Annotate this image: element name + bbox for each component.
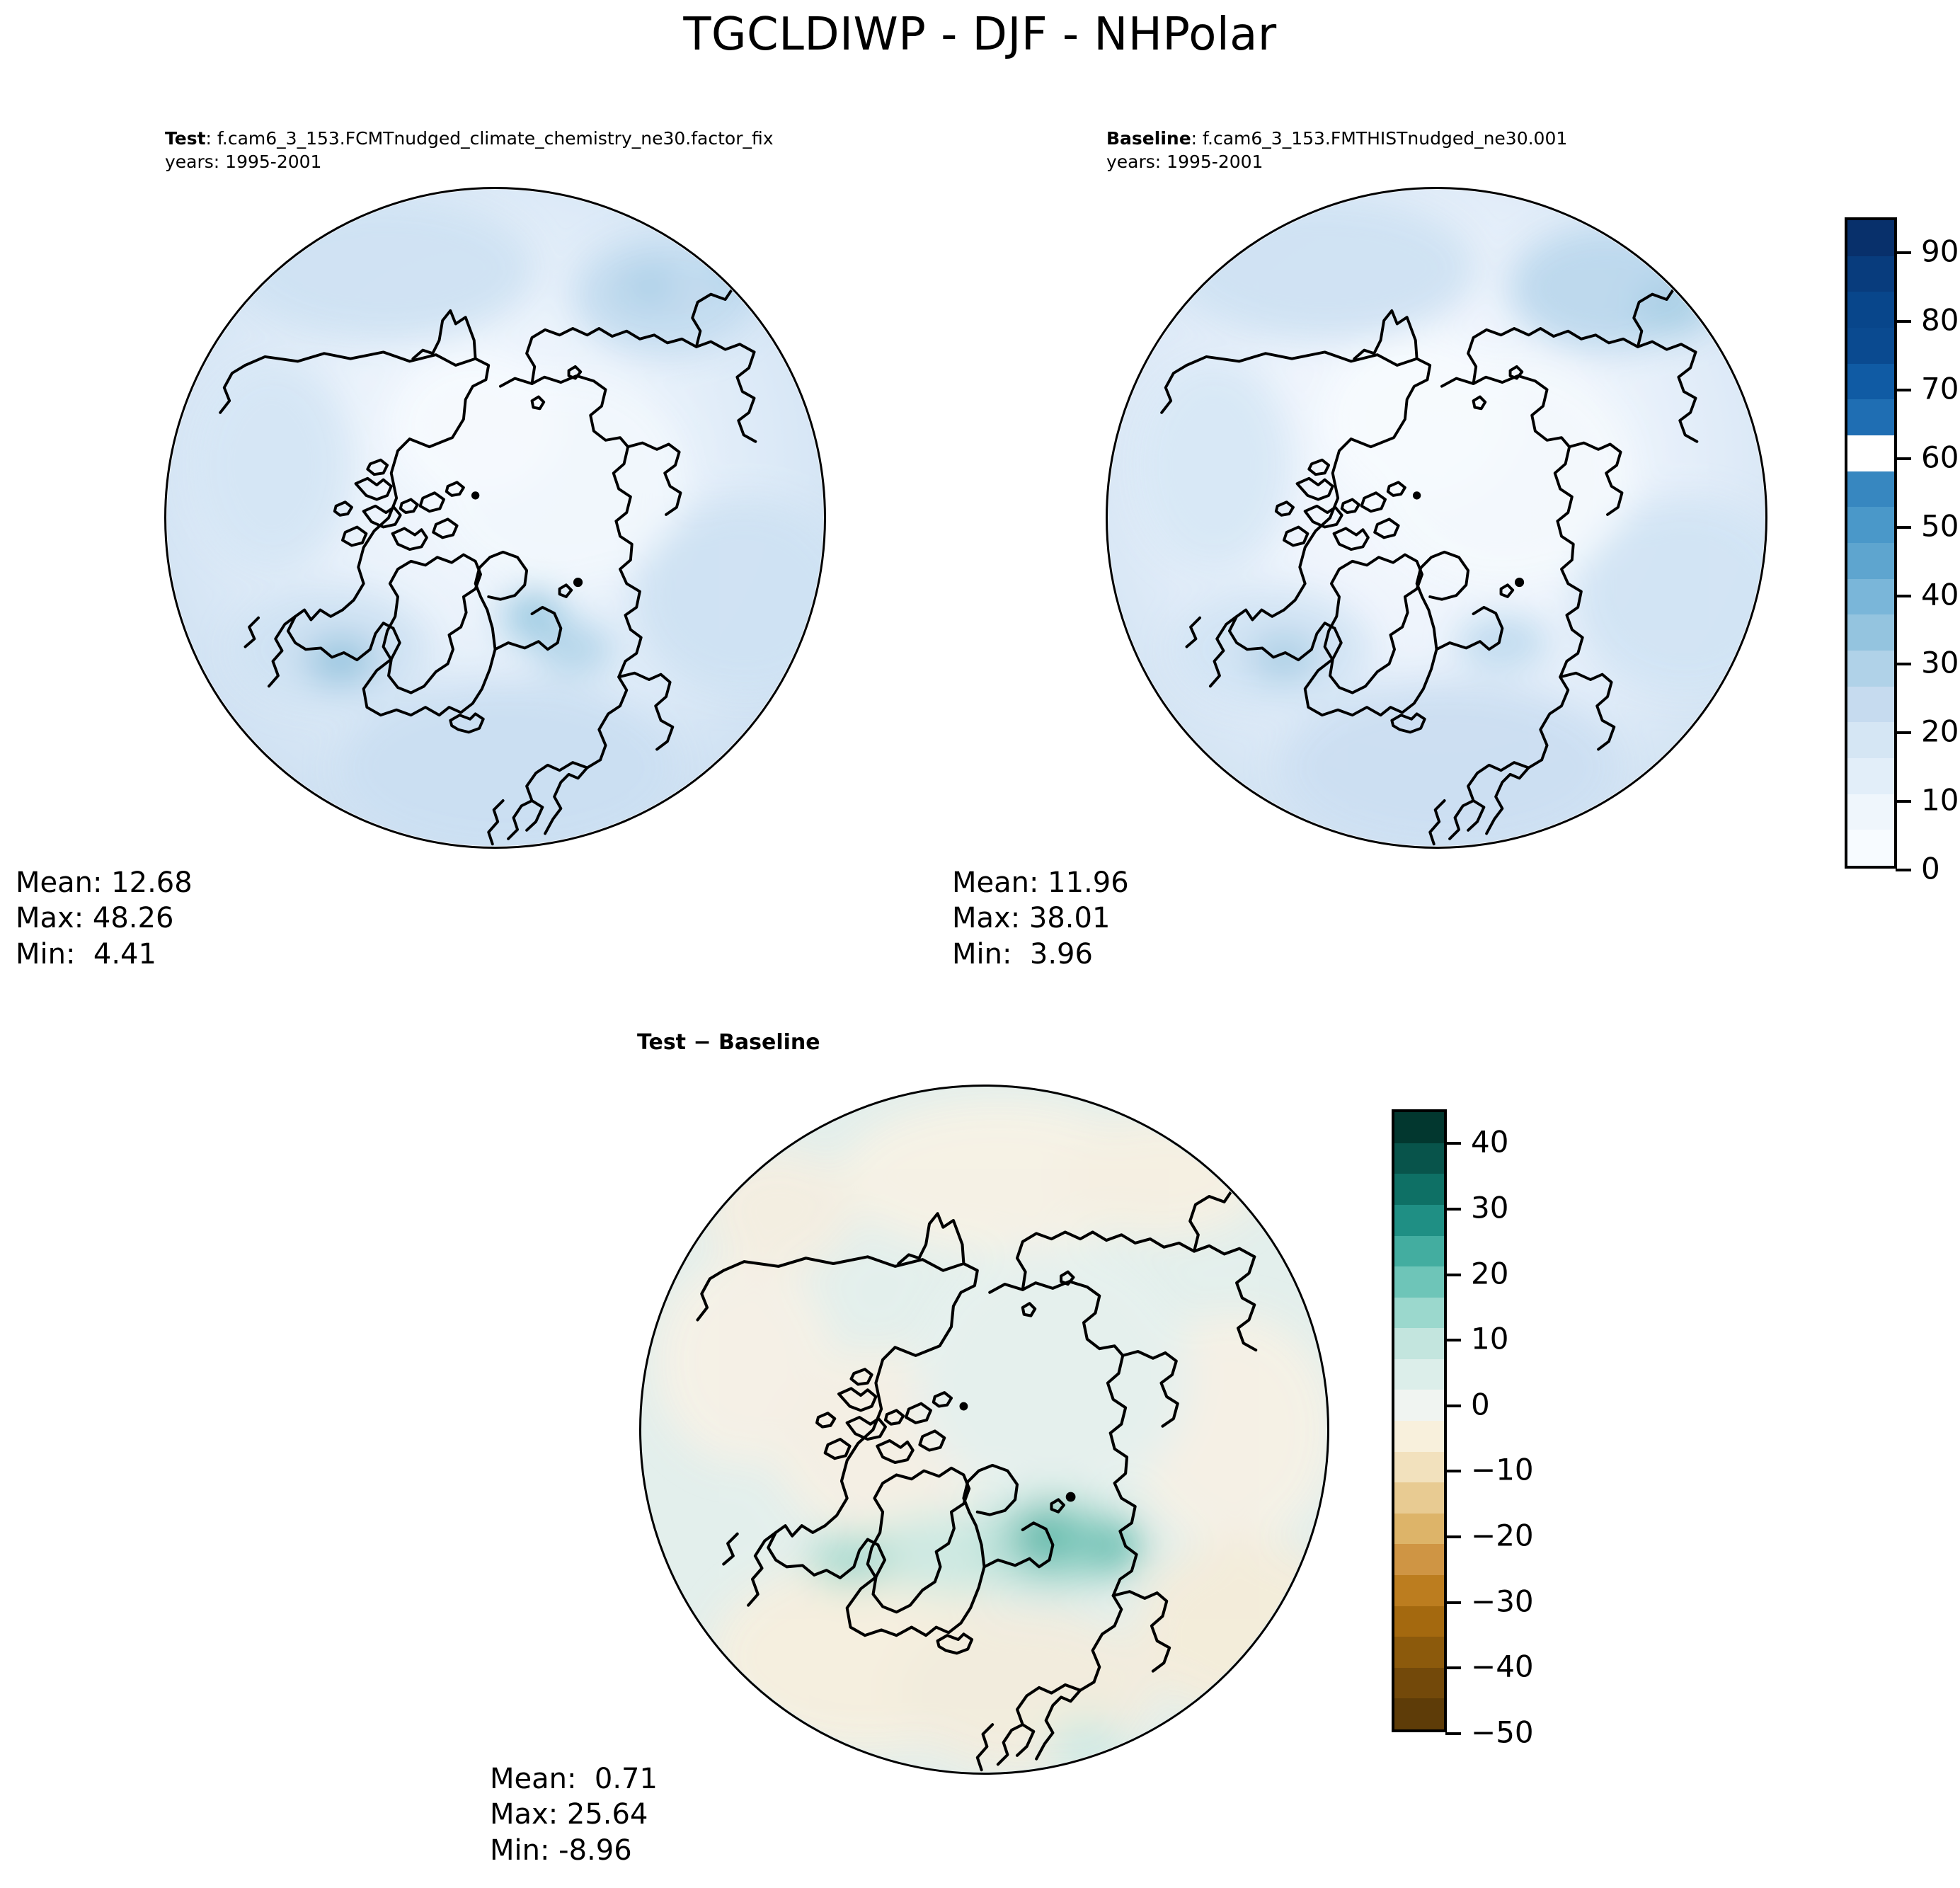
difference-colorbar-tick-label: 20 — [1471, 1256, 1508, 1291]
main-colorbar-ticks: 0102030405060708090 — [1845, 217, 1960, 869]
test-stats: Mean: 12.68 Max: 48.26 Min: 4.41 — [16, 865, 193, 972]
difference-colorbar-tick-label: 40 — [1471, 1125, 1508, 1160]
figure-canvas: TGCLDIWP - DJF - NHPolar Test: f.cam6_3_… — [0, 0, 1960, 1888]
main-colorbar-tick-label: 50 — [1921, 508, 1959, 543]
main-colorbar-tick-mark — [1896, 595, 1911, 597]
difference-colorbar-tick-label: 30 — [1471, 1190, 1508, 1225]
test-field-layer — [166, 189, 824, 847]
difference-colorbar-tick-label: −20 — [1471, 1518, 1534, 1553]
main-colorbar-tick-mark — [1896, 320, 1911, 323]
difference-colorbar[interactable]: −50−40−30−20−10010203040 — [1392, 1109, 1625, 1732]
test-header-label: Test — [165, 128, 206, 149]
main-colorbar-tick-mark — [1896, 731, 1911, 734]
difference-colorbar-tick-mark — [1445, 1601, 1461, 1604]
baseline-header-case: f.cam6_3_153.FMTHISTnudged_ne30.001 — [1203, 128, 1567, 149]
main-colorbar-tick-label: 30 — [1921, 646, 1959, 680]
difference-colorbar-tick-mark — [1445, 1732, 1461, 1735]
difference-map-svg — [641, 1087, 1327, 1773]
difference-colorbar-tick-mark — [1445, 1470, 1461, 1472]
main-colorbar-tick-mark — [1896, 526, 1911, 529]
test-map-svg — [166, 189, 824, 847]
difference-colorbar-tick-mark — [1445, 1404, 1461, 1407]
baseline-stats: Mean: 11.96 Max: 38.01 Min: 3.96 — [952, 865, 1129, 972]
test-header-case: f.cam6_3_153.FCMTnudged_climate_chemistr… — [217, 128, 774, 149]
baseline-header-label: Baseline — [1106, 128, 1191, 149]
baseline-header-sep: : — [1191, 128, 1203, 149]
baseline-header-years: years: 1995-2001 — [1106, 151, 1567, 174]
difference-colorbar-tick-label: −30 — [1471, 1584, 1534, 1618]
difference-colorbar-tick-label: −40 — [1471, 1649, 1534, 1684]
baseline-map-panel — [1106, 187, 1767, 849]
difference-colorbar-tick-mark — [1445, 1208, 1461, 1211]
main-colorbar-tick-label: 70 — [1921, 372, 1959, 406]
main-colorbar-tick-mark — [1896, 389, 1911, 391]
main-colorbar-tick-mark — [1896, 663, 1911, 665]
difference-colorbar-tick-label: 0 — [1471, 1387, 1490, 1421]
test-header-years: years: 1995-2001 — [165, 151, 774, 174]
main-colorbar[interactable]: 0102030405060708090 — [1845, 217, 1960, 869]
difference-map-panel — [639, 1085, 1329, 1775]
difference-colorbar-tick-mark — [1445, 1274, 1461, 1276]
difference-colorbar-ticks: −50−40−30−20−10010203040 — [1392, 1109, 1625, 1732]
main-colorbar-tick-label: 90 — [1921, 234, 1959, 269]
difference-colorbar-tick-label: 10 — [1471, 1322, 1508, 1356]
main-colorbar-tick-label: 80 — [1921, 303, 1959, 338]
difference-colorbar-tick-label: −10 — [1471, 1453, 1534, 1487]
difference-colorbar-tick-mark — [1445, 1339, 1461, 1341]
difference-panel-header: Test − Baseline — [637, 1030, 820, 1055]
main-colorbar-tick-label: 60 — [1921, 440, 1959, 474]
main-colorbar-tick-mark — [1896, 457, 1911, 460]
test-panel-header: Test: f.cam6_3_153.FCMTnudged_climate_ch… — [165, 127, 774, 173]
main-colorbar-tick-label: 20 — [1921, 714, 1959, 749]
difference-colorbar-tick-mark — [1445, 1142, 1461, 1145]
main-colorbar-tick-mark — [1896, 251, 1911, 254]
baseline-field-layer — [1108, 189, 1765, 847]
difference-stats: Mean: 0.71 Max: 25.64 Min: -8.96 — [490, 1761, 658, 1868]
baseline-panel-header: Baseline: f.cam6_3_153.FMTHISTnudged_ne3… — [1106, 127, 1567, 173]
difference-colorbar-tick-label: −50 — [1471, 1715, 1534, 1750]
difference-field-layer — [641, 1087, 1327, 1773]
main-colorbar-tick-label: 0 — [1921, 852, 1940, 886]
main-colorbar-tick-mark — [1896, 869, 1911, 871]
main-colorbar-tick-label: 10 — [1921, 783, 1959, 818]
baseline-map-svg — [1108, 189, 1765, 847]
difference-colorbar-tick-mark — [1445, 1666, 1461, 1669]
main-colorbar-tick-mark — [1896, 800, 1911, 803]
test-header-sep: : — [206, 128, 217, 149]
test-map-panel — [164, 187, 826, 849]
main-colorbar-tick-label: 40 — [1921, 577, 1959, 612]
page-title: TGCLDIWP - DJF - NHPolar — [0, 8, 1960, 61]
difference-colorbar-tick-mark — [1445, 1535, 1461, 1538]
